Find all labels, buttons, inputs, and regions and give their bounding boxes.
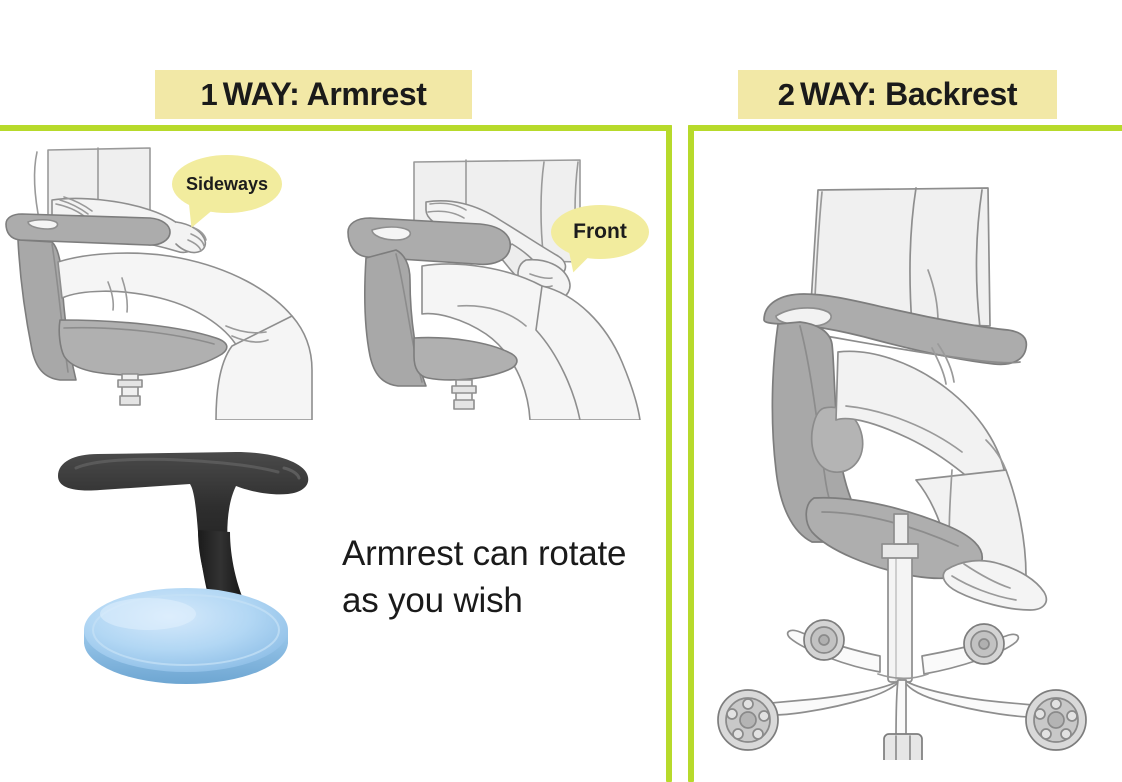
bubble-sideways-text: Sideways [186, 174, 268, 195]
divider-vertical-right [688, 125, 694, 782]
panel-1-heading-badge: 1 WAY: Armrest [155, 70, 472, 119]
panel-2-label: WAY: Backrest [800, 76, 1017, 113]
armrest-caption: Armrest can rotate as you wish [342, 530, 662, 625]
figure-armrest-product-photo [40, 440, 330, 690]
armrest-caption-line-1: Armrest can rotate [342, 530, 662, 577]
figure-seated-front [330, 140, 670, 420]
bubble-front: Front [551, 205, 649, 259]
divider-top-left [0, 125, 672, 131]
bubble-front-text: Front [573, 220, 627, 244]
divider-top-right [688, 125, 1122, 131]
bubble-sideways: Sideways [172, 155, 282, 213]
panel-2-heading-badge: 2 WAY: Backrest [738, 70, 1057, 119]
armrest-caption-line-2: as you wish [342, 577, 662, 624]
panel-2-number: 2 [778, 77, 795, 113]
figure-backrest-chair [700, 140, 1120, 760]
panel-1-label: WAY: Armrest [223, 76, 427, 113]
poster-canvas: 1 WAY: Armrest 2 WAY: Backrest [0, 0, 1122, 778]
panel-1-number: 1 [200, 77, 217, 113]
